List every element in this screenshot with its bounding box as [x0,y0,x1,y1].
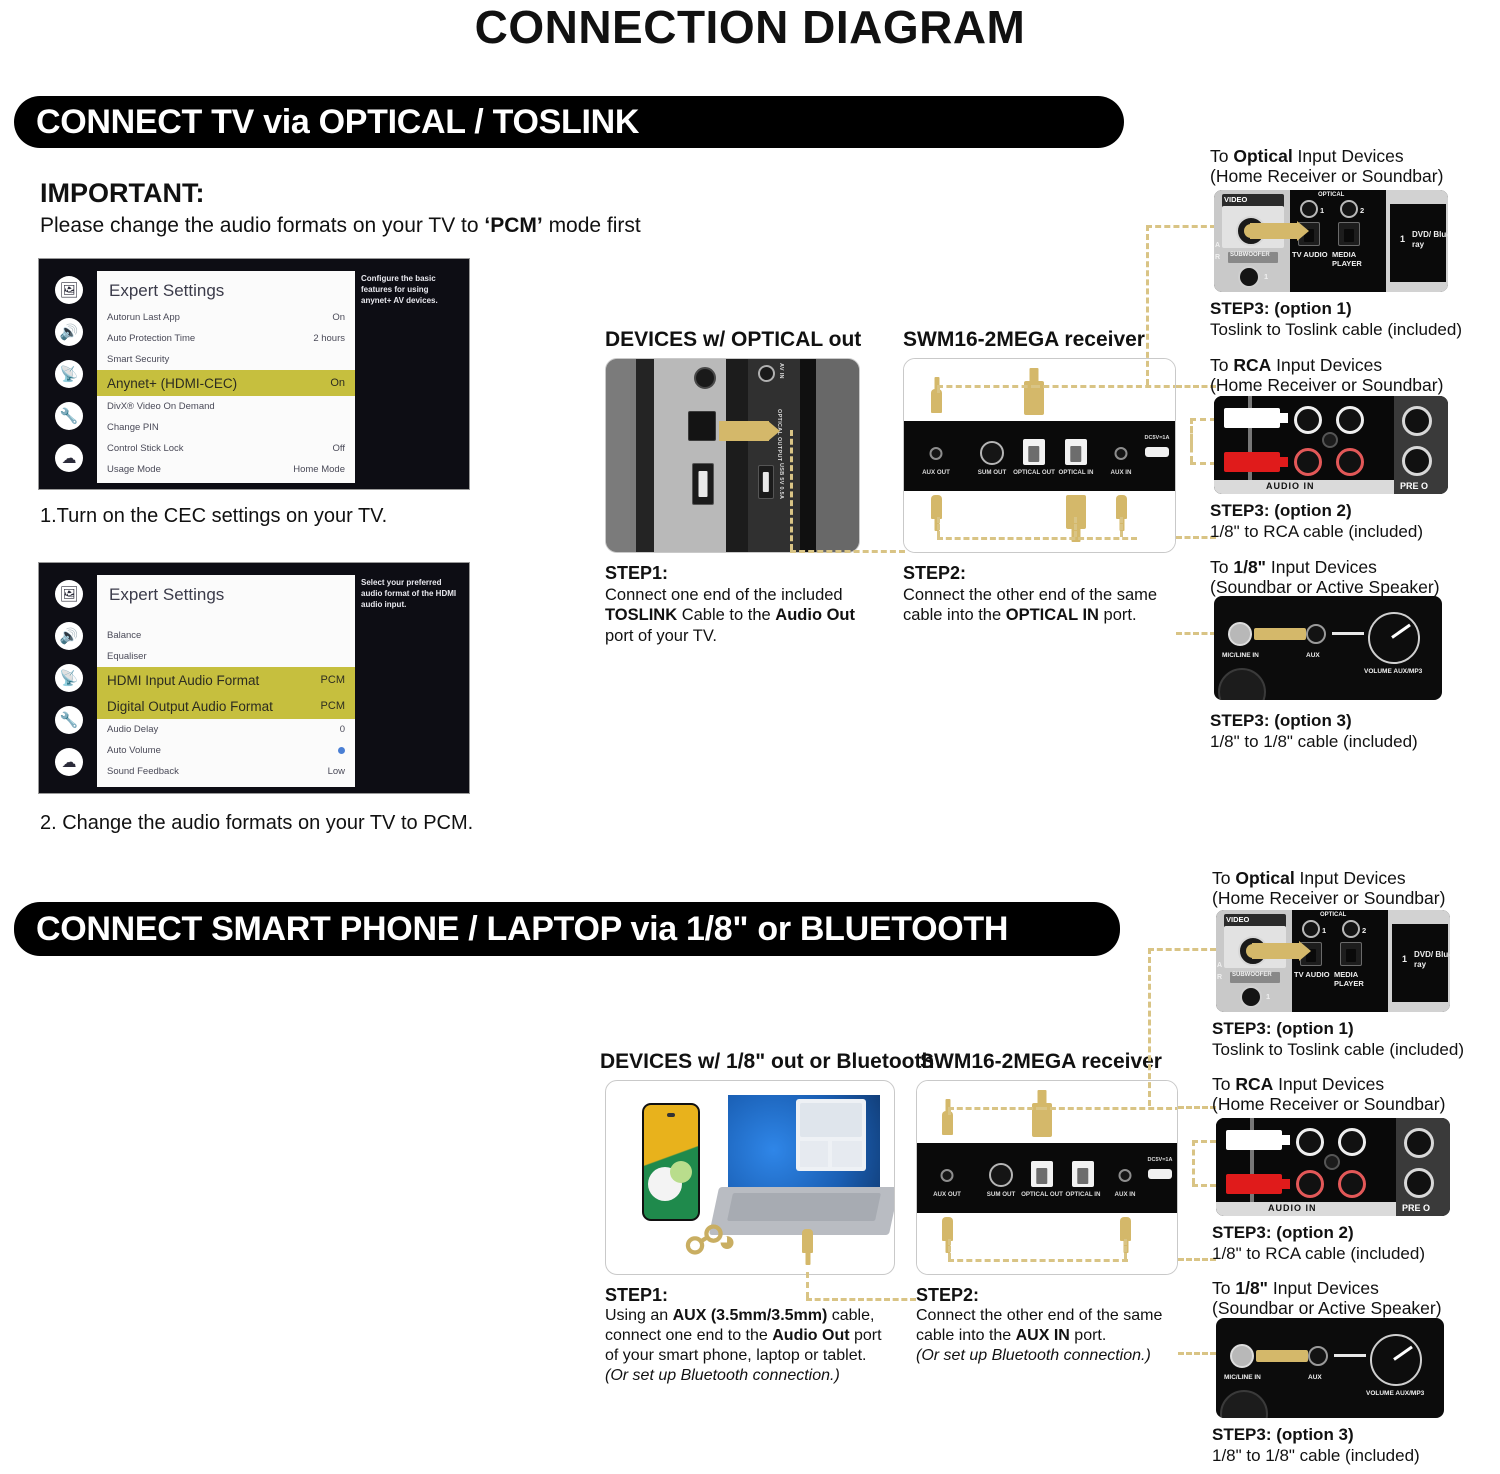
option3-caption-2: STEP3: (option 3) 1/8" to 1/8" cable (in… [1212,1424,1420,1466]
volume-knob-1[interactable] [1368,612,1420,664]
option2-step-text: 1/8" to RCA cable (included) [1210,521,1423,542]
step2-line-1: Connect the other end of the same [903,585,1193,606]
tv-settings-row[interactable]: Audio Delay 0 [97,719,355,740]
option3-head-sub: (Soundbar or Active Speaker) [1210,577,1440,597]
step1-line-1: Connect one end of the included [605,585,885,606]
optical-panel-screw-2 [1340,200,1358,218]
receiver-aux-in-jack[interactable] [1115,447,1128,460]
optical-panel-group-label-2: OPTICAL [1320,912,1346,918]
tv-settings-rail-1: 🖼 🔊 📡 🔧 ☁ [39,259,99,489]
tv-settings-title-1: Expert Settings [97,279,355,307]
pre-out-jack-2[interactable] [1402,446,1432,476]
mic-line-in-jack-2[interactable] [1230,1344,1254,1368]
optical-panel-tv-audio-label: TV AUDIO [1292,250,1328,259]
optical-panel-num-2-2: 2 [1362,926,1366,935]
optical-panel-media-player-label-2: MEDIA PLAYER [1334,970,1374,988]
tv-settings-row[interactable]: Usage Mode Home Mode [97,459,355,480]
tv-settings-row-label: Anynet+ (HDMI-CEC) [107,376,237,391]
receiver-aux-out-label-2: AUX OUT [933,1191,961,1198]
rca-jack-red-1-2[interactable] [1296,1170,1324,1198]
option3-step-title: STEP3: (option 3) [1210,710,1418,731]
tv-settings-row-auto-volume[interactable]: Auto Volume [97,740,355,761]
step2-phone-title: STEP2: [916,1285,1206,1305]
step2-phone-line-2: cable into the AUX IN port. [916,1326,1206,1346]
step1-line-2: TOSLINK Cable to the Audio Out [605,605,885,626]
option1-heading-optical: To Optical Input Devices (Home Receiver … [1210,146,1443,186]
receiver-sum-out-jack[interactable] [980,441,1004,465]
option1-caption-2: STEP3: (option 1) Toslink to Toslink cab… [1212,1018,1464,1060]
tv-settings-row-label: Usage Mode [107,464,161,475]
aux-plug-phone-icon [802,1229,813,1253]
tv-settings-row[interactable]: Balance [97,625,355,646]
toslink-plug-arrow-icon [719,421,769,441]
tv-settings-row-label: Smart Security [107,354,169,365]
step2-block-optical: STEP2: Connect the other end of the same… [903,563,1193,626]
tv-settings-row-label: HDMI Input Audio Format [107,673,259,688]
option2-step-text-2: 1/8" to RCA cable (included) [1212,1243,1425,1264]
section-banner-optical: CONNECT TV via OPTICAL / TOSLINK [14,96,1124,148]
receiver-optical-in-port-2[interactable] [1072,1161,1094,1187]
option3-head-bold-2: 1/8" [1235,1278,1268,1298]
eighth-input-panel-image-1: MIC/LINE IN AUX VOLUME AUX/MP3 [1214,596,1442,700]
option1-head-suffix-2: Input Devices [1295,868,1406,888]
dash-receiver2-to-optical-option [1148,948,1151,1106]
volume-label: VOLUME AUX/MP3 [1364,668,1424,676]
phone-laptop-image: ☍ ◕ [605,1080,895,1275]
important-text-after: mode first [543,214,641,237]
volume-label-2: VOLUME AUX/MP3 [1366,1390,1426,1398]
dash-receiver-to-eighth-option [1176,632,1216,635]
option3-head-prefix: To [1210,557,1233,577]
option3-caption: STEP3: (option 3) 1/8" to 1/8" cable (in… [1210,710,1418,752]
tv-settings-rail-2: 🖼 🔊 📡 🔧 ☁ [39,563,99,793]
step2-phone-line-3: (Or set up Bluetooth connection.) [916,1346,1206,1366]
pre-out-jack-1-2[interactable] [1404,1128,1434,1158]
option3-step-title-2: STEP3: (option 3) [1212,1424,1420,1445]
aux-plug-bottom-left-icon [931,495,942,519]
important-subtext: Please change the audio formats on your … [40,214,641,238]
mic-line-in-label-2: MIC/LINE IN [1224,1374,1261,1381]
tv-settings-row-value: Off [333,443,346,454]
tv-settings-row-value: On [330,377,345,389]
tv-settings-row[interactable]: DivX® Video On Demand [97,396,355,417]
receiver-power-label-2: DC5V=1A [1148,1157,1173,1163]
mic-line-in-label: MIC/LINE IN [1222,652,1259,659]
eighth-gold-plug-icon-2 [1256,1350,1308,1362]
step1-line-3: port of your TV. [605,626,885,647]
step2-block-phone: STEP2: Connect the other end of the same… [916,1285,1206,1366]
sound-icon: 🔊 [55,318,83,346]
receiver-panel-image-top: AUX OUT SUM OUT OPTICAL OUT OPTICAL IN A… [903,358,1176,553]
tv-settings-row-label: Change PIN [107,422,159,433]
section-banner-phone-label: CONNECT SMART PHONE / LAPTOP via 1/8" or… [36,910,1008,949]
rca-jack-white-1[interactable] [1294,406,1322,434]
tv-settings-panel-2: Expert Settings Balance Equaliser HDMI I… [97,575,355,787]
option3-head-suffix-2: Input Devices [1268,1278,1379,1298]
eighth-panel-knob-bottom-2 [1220,1390,1268,1418]
tv-settings-row-label: Auto Volume [107,745,161,756]
tv-settings-row-label: Sound Feedback [107,766,179,777]
dash-receiver-to-optical-option [1146,225,1149,385]
option2-head-prefix: To [1210,355,1233,375]
broadcast-icon: 📡 [55,664,83,692]
optical-panel-side-r: R [1215,254,1220,261]
section-banner-optical-label: CONNECT TV via OPTICAL / TOSLINK [36,103,639,142]
option1-step-text-2: Toslink to Toslink cable (included) [1212,1039,1464,1060]
option2-head-prefix-2: To [1212,1074,1235,1094]
rca-white-plug-icon-2 [1226,1130,1282,1150]
step1-phone-line-4: (Or set up Bluetooth connection.) [605,1366,905,1386]
tv-settings-row-label: Audio Delay [107,724,158,735]
option3-step-text-2: 1/8" to 1/8" cable (included) [1212,1445,1420,1466]
optical-panel-video-label-2: VIDEO [1226,915,1249,924]
optical-panel-dvd-label-2: DVD/ Blu-ray [1414,950,1450,970]
aux-plug-bottom-right-icon [1116,495,1127,519]
option3-head-sub-2: (Soundbar or Active Speaker) [1212,1298,1442,1318]
rca-white-plug-icon [1224,408,1280,428]
important-text-before: Please change the audio formats on your … [40,214,484,237]
optical-panel-media-player-label: MEDIA PLAYER [1332,250,1372,268]
option2-head-sub-2: (Home Receiver or Soundbar) [1212,1094,1445,1114]
optical-panel-sub-jack-2 [1240,986,1262,1008]
tv-settings-row[interactable]: Equaliser [97,646,355,667]
tv-settings-row-value: 0 [340,724,345,735]
option3-head-suffix: Input Devices [1266,557,1377,577]
optical-panel-dvd-num: 1 [1400,234,1405,244]
optical-panel-screw-2-2 [1342,920,1360,938]
aux-plug-bottom-right-icon-2 [1120,1217,1131,1241]
optical-panel-subwoofer-label-2: SUBWOOFER [1232,972,1272,978]
picture-icon: 🖼 [55,276,83,304]
receiver-optical-out-port-2[interactable] [1031,1161,1053,1187]
option2-caption: STEP3: (option 2) 1/8" to RCA cable (inc… [1210,500,1423,542]
rca-red-plug-icon [1224,452,1280,472]
step1-phone-title: STEP1: [605,1285,905,1305]
step1-phone-line-2: connect one end to the Audio Out port [605,1326,905,1346]
optical-panel-screw-1-2 [1302,920,1320,938]
tv-usb-port [692,463,714,505]
tv-settings-row-label: Digital Output Audio Format [107,699,273,714]
option1-head-sub-2: (Home Receiver or Soundbar) [1212,888,1445,908]
optical-panel-sub-num-2: 1 [1266,992,1270,1001]
aux-label-2: AUX [1308,1374,1322,1381]
receiver-sum-out-jack-2[interactable] [989,1163,1013,1187]
aux-jack-2[interactable] [1308,1346,1328,1366]
receiver-optical-out-label-2: OPTICAL OUT [1021,1191,1063,1198]
optical-panel-video-label: VIDEO [1224,195,1247,204]
page-title: CONNECTION DIAGRAM [0,0,1500,54]
optical-panel-side-r-2: R [1217,974,1222,981]
tv-settings-row-label: DivX® Video On Demand [107,401,215,412]
receiver-aux-in-label: AUX IN [1111,469,1132,476]
tv-usb-5v-label: USB 5V 0.5A [778,463,784,499]
step1-phone-line-1: Using an AUX (3.5mm/3.5mm) cable, [605,1306,905,1326]
tv-settings-screenshot-cec: 🖼 🔊 📡 🔧 ☁ Expert Settings Autorun Last A… [38,258,470,490]
wifi-icon: ◕ [718,1227,736,1257]
picture-icon: 🖼 [55,580,83,608]
tv-usb-5v-port [758,465,774,499]
step2-line-2: cable into the OPTICAL IN port. [903,605,1193,626]
eighth-panel-knob-bottom [1218,668,1266,700]
receiver-aux-in-jack-2[interactable] [1119,1169,1132,1182]
tv-settings-row-label: Autorun Last App [107,312,180,323]
option2-head-bold: RCA [1233,355,1271,375]
rca-red-plug-icon-2 [1226,1174,1282,1194]
tv-settings-panel-1: Expert Settings Autorun Last App On Auto… [97,271,355,483]
optical-input-panel-image-1: VIDEO MONITOR SUBWOOFER 1 A R OPTICAL 1 … [1214,190,1448,292]
rca-panel-audio-in-label-2: AUDIO IN [1268,1203,1317,1213]
tv-settings-hint-1: Configure the basic features for using a… [361,273,461,306]
tv-settings-row-hdmi-input-audio-format[interactable]: HDMI Input Audio Format PCM [97,667,355,693]
tv-settings-title-2: Expert Settings [97,583,355,611]
aux-label: AUX [1306,652,1320,659]
tv-settings-screenshot-audio: 🖼 🔊 📡 🔧 ☁ Expert Settings Balance Equali… [38,562,470,794]
tv-av-in-port [758,365,775,382]
devices-phone-heading: DEVICES w/ 1/8" out or Bluetooth [600,1050,934,1074]
general-wrench-icon: 🔧 [55,706,83,734]
tv-back-panel-image: AV IN OPTICAL OUTPUT USB 5V 0.5A [605,358,860,553]
rca-input-panel-image-2: AUDIO IN PRE O [1216,1118,1450,1216]
aux-jack-1[interactable] [1306,624,1326,644]
dash-tv-to-step2-vertical [790,430,793,550]
optical-input-panel-image-2: VIDEO MONITOR SUBWOOFER 1 A R OPTICAL 1 … [1216,910,1450,1012]
tv-settings-row[interactable]: Change PIN [97,417,355,438]
mic-line-in-jack-1[interactable] [1228,622,1252,646]
option1-caption: STEP3: (option 1) Toslink to Toslink cab… [1210,298,1462,340]
receiver-aux-out-jack-2[interactable] [941,1169,954,1182]
option1-step-title: STEP3: (option 1) [1210,298,1462,319]
devices-optical-heading: DEVICES w/ OPTICAL out [605,328,861,352]
optical-panel-num-2: 2 [1360,206,1364,215]
option2-step-title-2: STEP3: (option 2) [1212,1222,1425,1243]
important-heading: IMPORTANT: [40,178,204,209]
optical-panel-num-1-2: 1 [1322,926,1326,935]
optical-panel-num-1: 1 [1320,206,1324,215]
option2-head-suffix-2: Input Devices [1273,1074,1384,1094]
tv-optical-out-port [688,411,716,441]
option2-head-sub: (Home Receiver or Soundbar) [1210,375,1443,395]
tv-settings-row[interactable]: Smart Security [97,349,355,370]
tv-settings-row[interactable]: Sound Feedback Low [97,761,355,782]
option2-head-suffix: Input Devices [1271,355,1382,375]
receiver-optical-in-label: OPTICAL IN [1059,469,1094,476]
receiver-power-label: DC5V=1A [1145,435,1170,441]
laptop-keyboard [727,1193,881,1221]
eighth-gold-plug-icon [1254,628,1306,640]
option2-step-title: STEP3: (option 2) [1210,500,1423,521]
tv-settings-row-label: Balance [107,630,141,641]
section-banner-phone: CONNECT SMART PHONE / LAPTOP via 1/8" or… [14,902,1120,956]
important-emphasis: ‘PCM’ [484,214,542,237]
rca-jack-white-2-2[interactable] [1338,1128,1366,1156]
receiver-aux-out-label: AUX OUT [922,469,950,476]
toslink-plug-arrow-optical-1-icon [1250,223,1298,239]
tv-settings-row[interactable]: Auto Protection Time 2 hours [97,328,355,349]
option1-step-text: Toslink to Toslink cable (included) [1210,319,1462,340]
optical-panel-screw-1 [1300,200,1318,218]
optical-panel-side-a: A [1215,242,1220,249]
tv-port-round-top [694,367,716,389]
smartphone-screen [644,1105,698,1219]
tv-settings-row-value: PCM [321,674,345,686]
receiver-optical-out-label: OPTICAL OUT [1013,469,1055,476]
option1-head-sub: (Home Receiver or Soundbar) [1210,166,1443,186]
optical-panel-sub-num: 1 [1264,272,1268,281]
support-icon: ☁ [55,444,83,472]
step2-phone-line-1: Connect the other end of the same [916,1306,1206,1326]
support-icon: ☁ [55,748,83,776]
sound-icon: 🔊 [55,622,83,650]
receiver-optical-out-port[interactable] [1023,439,1045,465]
rca-panel-screw-2 [1324,1154,1340,1170]
rca-jack-red-2-2[interactable] [1338,1170,1366,1198]
step2-title: STEP2: [903,563,1193,584]
dash-tv-to-step2-horizontal [790,550,905,553]
volume-knob-2[interactable] [1370,1334,1422,1386]
optical-panel-media-player-port[interactable] [1338,222,1360,246]
step1-block-optical: STEP1: Connect one end of the included T… [605,563,885,646]
option2-heading-rca-2: To RCA Input Devices (Home Receiver or S… [1212,1074,1445,1114]
option1-head-prefix-2: To [1212,868,1235,888]
receiver-sum-out-label-2: SUM OUT [987,1191,1016,1198]
tv-settings-row-value: 2 hours [313,333,345,344]
receiver-phone-heading: SWM16-2MEGA receiver [920,1050,1162,1074]
tv-av-in-label: AV IN [778,363,784,379]
step1-block-phone: STEP1: Using an AUX (3.5mm/3.5mm) cable,… [605,1285,905,1386]
step1-title: STEP1: [605,563,885,584]
tv-settings-row-value: Low [328,766,345,777]
receiver-optical-in-label-2: OPTICAL IN [1066,1191,1101,1198]
receiver-power-port-2[interactable] [1148,1169,1172,1179]
receiver-optical-heading: SWM16-2MEGA receiver [903,328,1145,352]
option3-head-prefix-2: To [1212,1278,1235,1298]
option2-head-bold-2: RCA [1235,1074,1273,1094]
receiver-optical-in-port[interactable] [1065,439,1087,465]
optical-panel-media-player-port-2[interactable] [1340,942,1362,966]
optical-panel-sub-jack [1238,266,1260,288]
option1-head-bold-2: Optical [1235,868,1294,888]
optical-panel-dvd-label: DVD/ Blu-ray [1412,230,1448,250]
tv-settings-row-label: Equaliser [107,651,147,662]
rca-jack-red-2[interactable] [1336,448,1364,476]
option1-heading-optical-2: To Optical Input Devices (Home Receiver … [1212,868,1445,908]
tv-settings-row-value: Home Mode [293,464,345,475]
option3-head-bold: 1/8" [1233,557,1266,577]
receiver-power-port[interactable] [1145,447,1169,457]
optical-panel-group-label: OPTICAL [1318,192,1344,198]
rca-jack-white-2[interactable] [1336,406,1364,434]
tv-settings-row[interactable]: Autorun Last App On [97,307,355,328]
receiver-aux-out-jack[interactable] [930,447,943,460]
tv-settings-row-anynet-cec[interactable]: Anynet+ (HDMI-CEC) On [97,370,355,396]
option3-heading-eighth-2: To 1/8" Input Devices (Soundbar or Activ… [1212,1278,1442,1318]
toggle-dot-icon [338,747,345,754]
step1-phone-line-3: of your smart phone, laptop or tablet. [605,1346,905,1366]
rca-panel-audio-in-label: AUDIO IN [1266,481,1315,491]
option1-step-title-2: STEP3: (option 1) [1212,1018,1464,1039]
option1-head-prefix: To [1210,146,1233,166]
option1-head-bold: Optical [1233,146,1292,166]
tv-settings-row-label: Control Stick Lock [107,443,184,454]
rca-panel-pre-out-label-2: PRE O [1402,1203,1430,1213]
toslink-plug-arrow-optical-2-icon [1252,943,1300,959]
rca-input-panel-image-1: AUDIO IN PRE O [1214,396,1448,494]
aux-plug-bottom-left-icon-2 [942,1217,953,1241]
tv-settings-row-value: PCM [321,700,345,712]
option2-caption-2: STEP3: (option 2) 1/8" to RCA cable (inc… [1212,1222,1425,1264]
receiver-panel-image-bottom: AUX OUT SUM OUT OPTICAL OUT OPTICAL IN A… [916,1080,1178,1275]
option3-step-text: 1/8" to 1/8" cable (included) [1210,731,1418,752]
receiver-sum-out-label: SUM OUT [978,469,1007,476]
tv-settings-row[interactable]: Control Stick Lock Off [97,438,355,459]
rca-jack-red-1[interactable] [1294,448,1322,476]
optical-panel-subwoofer-label: SUBWOOFER [1230,252,1270,258]
tv-settings-row-value: On [332,312,345,323]
optical-panel-side-a-2: A [1217,962,1222,969]
option1-head-suffix: Input Devices [1293,146,1404,166]
smartphone-art [642,1103,700,1221]
eighth-input-panel-image-2: MIC/LINE IN AUX VOLUME AUX/MP3 [1216,1318,1444,1418]
optical-panel-tv-audio-label-2: TV AUDIO [1294,970,1330,979]
tv-settings-row-digital-output-audio-format[interactable]: Digital Output Audio Format PCM [97,693,355,719]
receiver-aux-in-label-2: AUX IN [1115,1191,1136,1198]
pre-out-jack-2-2[interactable] [1404,1168,1434,1198]
tv-settings-hint-2: Select your preferred audio format of th… [361,577,461,610]
general-wrench-icon: 🔧 [55,402,83,430]
option3-heading-eighth: To 1/8" Input Devices (Soundbar or Activ… [1210,557,1440,597]
pre-out-jack-1[interactable] [1402,406,1432,436]
rca-jack-white-1-2[interactable] [1296,1128,1324,1156]
laptop-screen [728,1095,880,1187]
tv-back-photo: AV IN OPTICAL OUTPUT USB 5V 0.5A [606,359,859,552]
option2-heading-rca: To RCA Input Devices (Home Receiver or S… [1210,355,1443,395]
rca-panel-pre-out-label: PRE O [1400,481,1428,491]
tv-settings-row-label: Auto Protection Time [107,333,195,344]
caption-step-1: 1.Turn on the CEC settings on your TV. [40,505,387,528]
caption-step-2: 2. Change the audio formats on your TV t… [40,812,473,835]
broadcast-icon: 📡 [55,360,83,388]
optical-panel-dvd-num-2: 1 [1402,954,1407,964]
rca-panel-screw [1322,432,1338,448]
